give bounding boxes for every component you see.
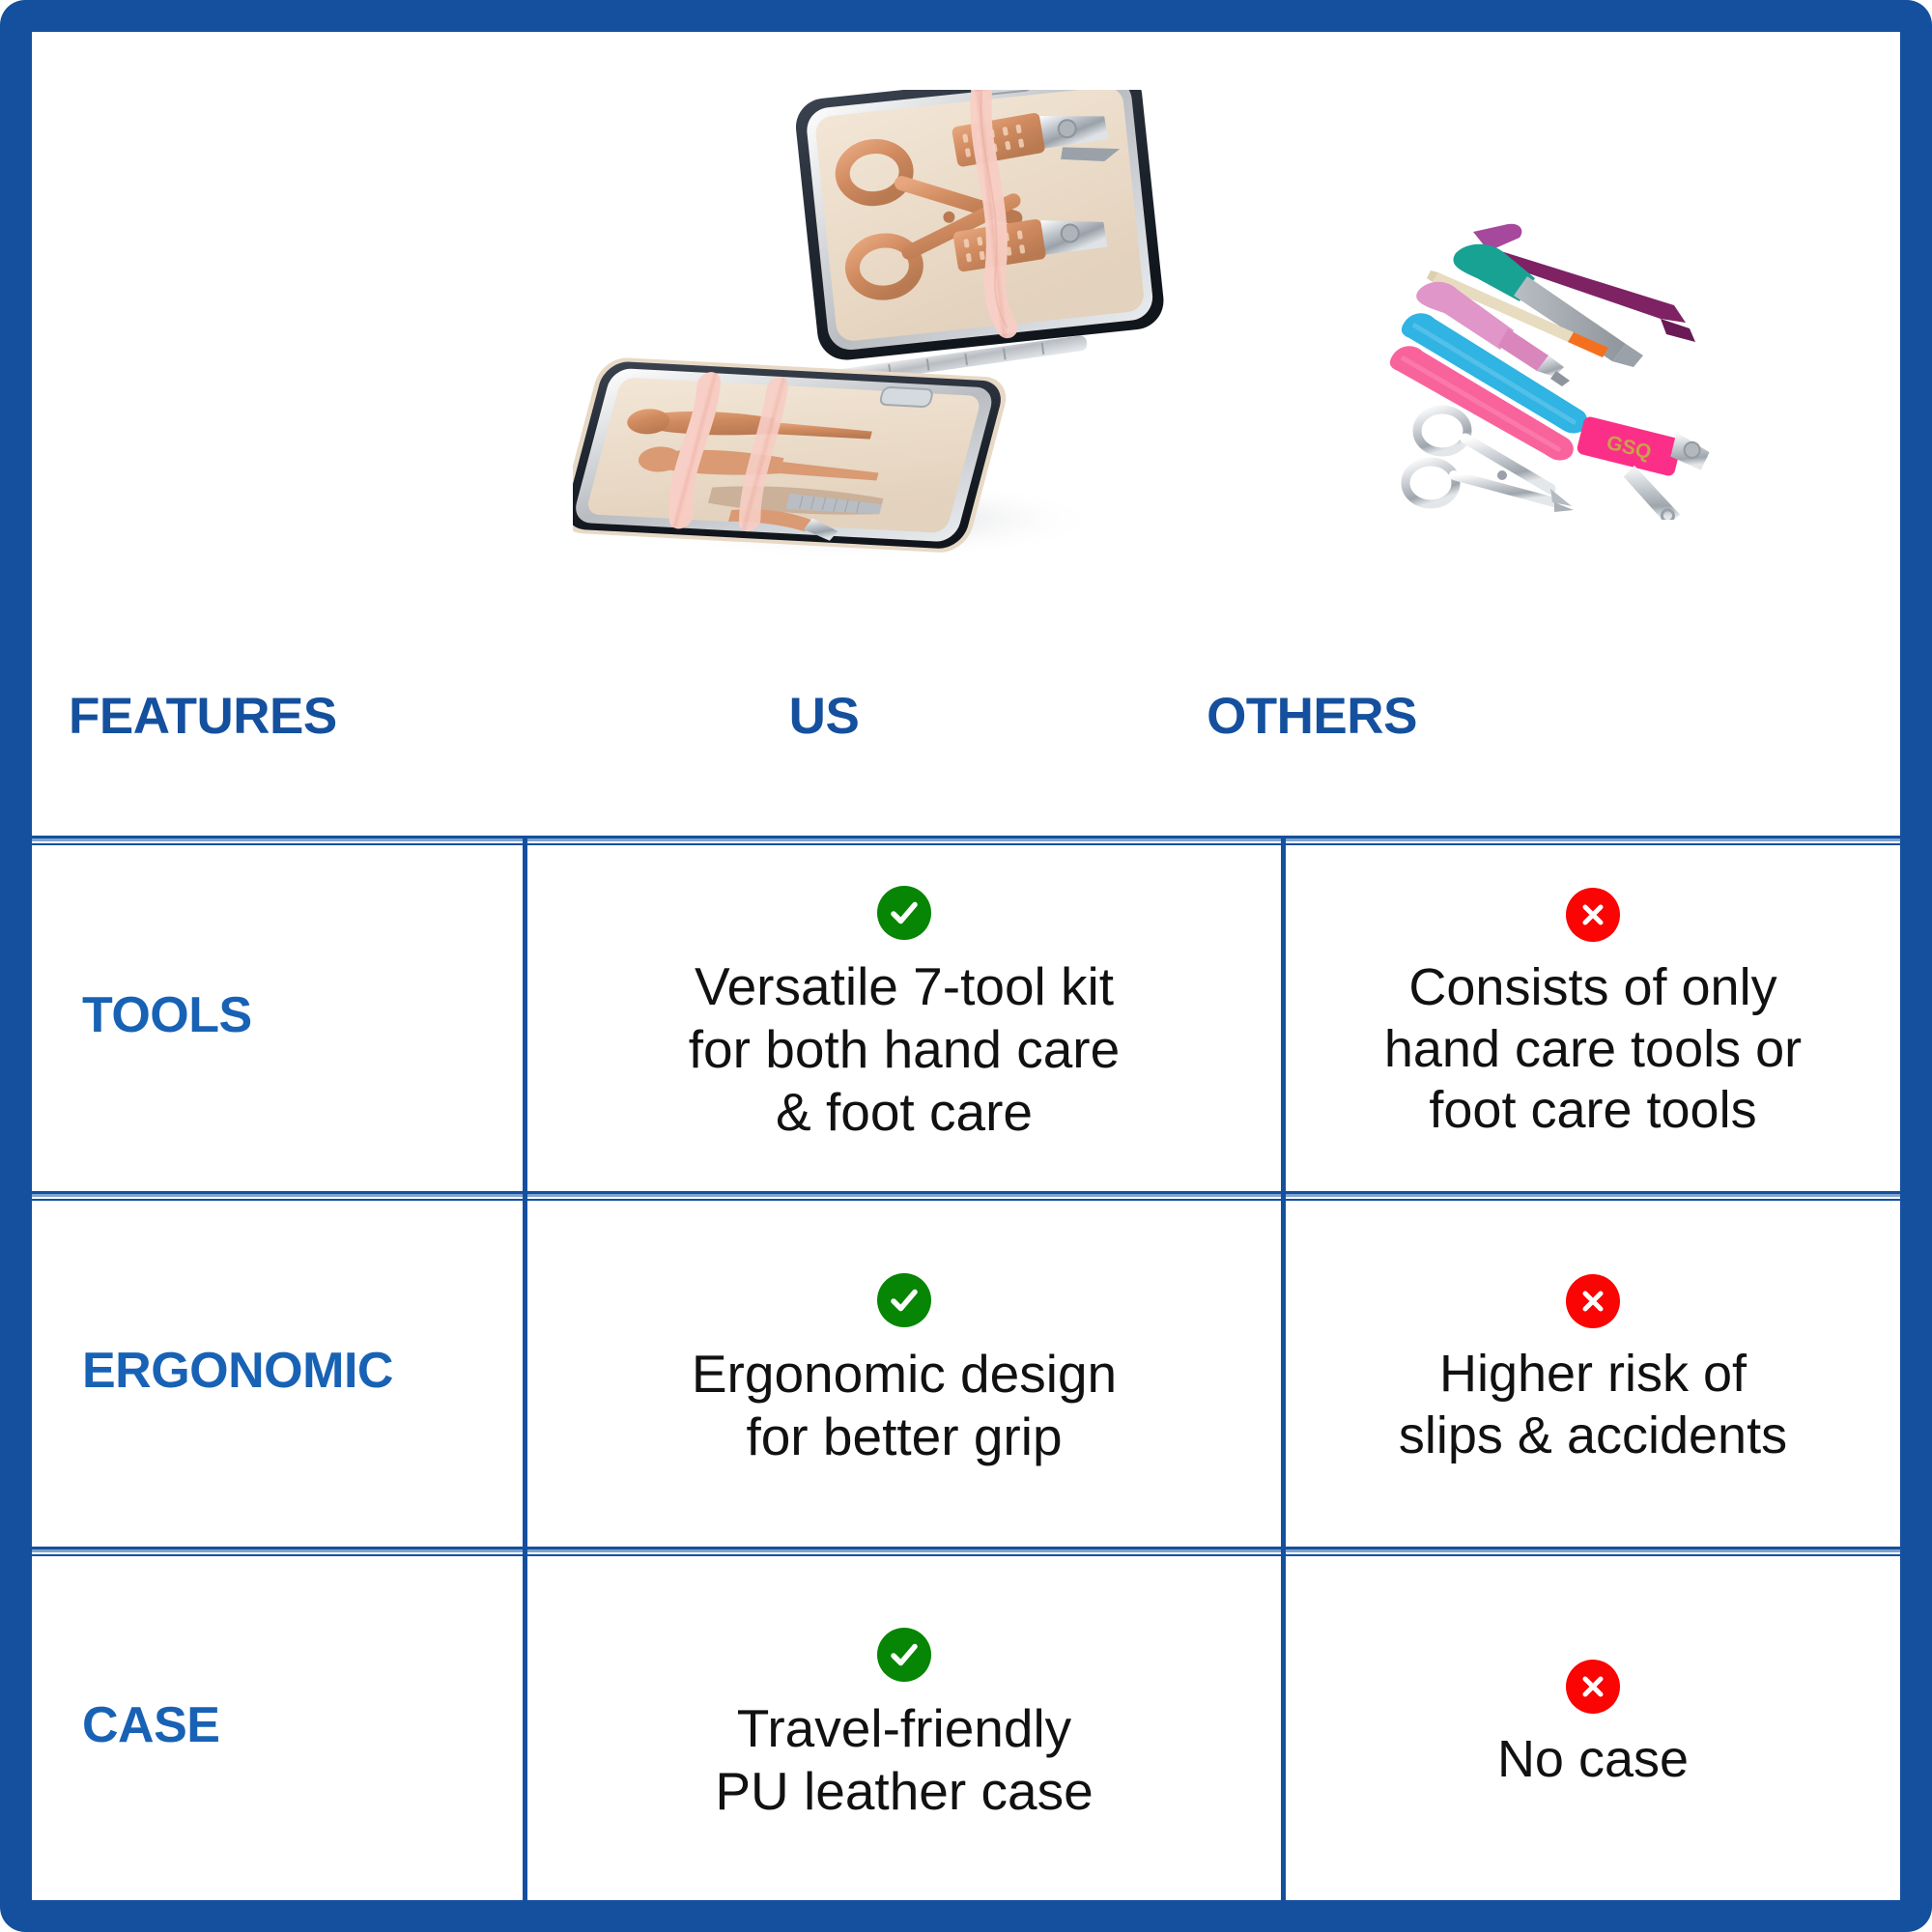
feature-label-ergonomic: ERGONOMIC	[32, 1342, 393, 1400]
check-icon	[877, 886, 931, 940]
cross-icon	[1566, 888, 1620, 942]
comparison-table: TOOLS Versatile 7-tool kit for both hand…	[32, 836, 1900, 1900]
us-cell-case: Travel-friendly PU leather case	[527, 1549, 1281, 1900]
others-product-image: GSQ	[1384, 201, 1732, 520]
others-cell-tools: Consists of only hand care tools or foot…	[1286, 838, 1900, 1191]
check-icon	[877, 1628, 931, 1682]
us-product-image	[573, 90, 1172, 563]
others-cell-ergonomic: Higher risk of slips & accidents	[1286, 1194, 1900, 1547]
us-text-tools: Versatile 7-tool kit for both hand care …	[689, 955, 1120, 1144]
us-cell-tools: Versatile 7-tool kit for both hand care …	[527, 838, 1281, 1191]
feature-label-tools: TOOLS	[32, 986, 252, 1044]
table-row: CASE Travel-friendly PU leather case No …	[32, 1547, 1900, 1900]
us-text-case: Travel-friendly PU leather case	[715, 1697, 1093, 1823]
cross-icon	[1566, 1660, 1620, 1714]
others-text-tools: Consists of only hand care tools or foot…	[1384, 957, 1802, 1142]
table-header-row: FEATURES US OTHERS	[32, 655, 1900, 836]
feature-cell: ERGONOMIC	[32, 1194, 523, 1547]
others-text-case: No case	[1497, 1729, 1689, 1791]
others-cell-case: No case	[1286, 1549, 1900, 1900]
table-row: TOOLS Versatile 7-tool kit for both hand…	[32, 836, 1900, 1191]
cross-icon	[1566, 1274, 1620, 1328]
others-text-ergonomic: Higher risk of slips & accidents	[1399, 1344, 1787, 1466]
check-icon	[877, 1273, 931, 1327]
comparison-card: GSQ FEATURES US OTHERS TOOLS	[0, 0, 1932, 1932]
hero-product-band: GSQ	[32, 32, 1900, 655]
column-header-features: FEATURES	[69, 687, 337, 746]
feature-cell: CASE	[32, 1549, 523, 1900]
column-header-others: OTHERS	[1123, 687, 1500, 746]
us-text-ergonomic: Ergonomic design for better grip	[692, 1343, 1117, 1468]
us-cell-ergonomic: Ergonomic design for better grip	[527, 1194, 1281, 1547]
column-header-us: US	[650, 687, 998, 746]
feature-label-case: CASE	[32, 1696, 219, 1754]
feature-cell: TOOLS	[32, 838, 523, 1191]
table-row: ERGONOMIC Ergonomic design for better gr…	[32, 1191, 1900, 1547]
